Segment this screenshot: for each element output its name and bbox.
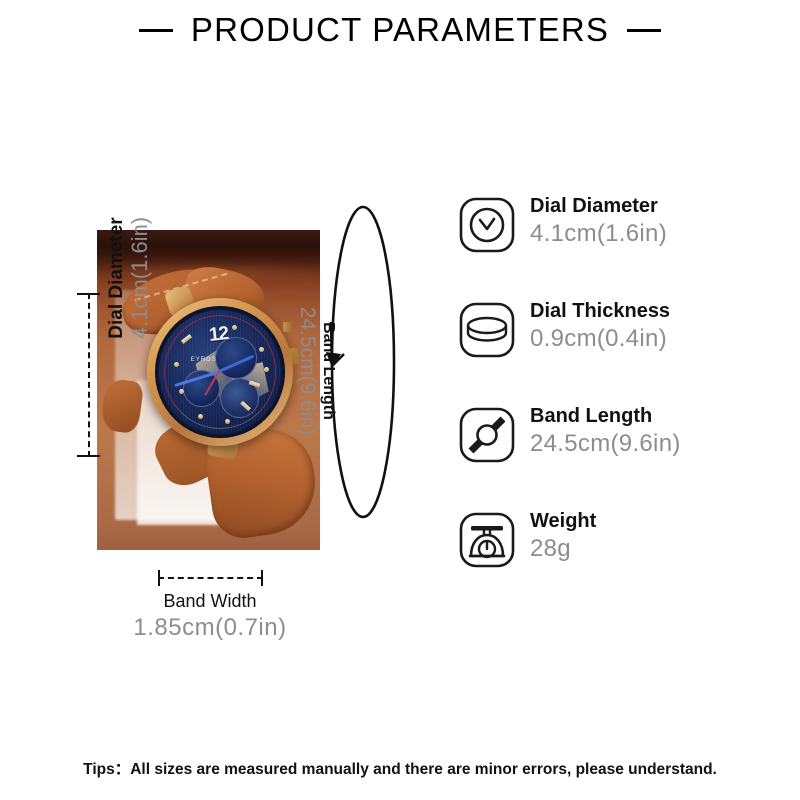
spec-label: Dial Diameter: [530, 194, 667, 219]
spec-label: Dial Thickness: [530, 299, 670, 324]
band-width-callout: Band Width 1.85cm(0.7in): [90, 590, 330, 643]
watch-band-icon: [458, 406, 516, 464]
spec-list: Dial Diameter 4.1cm(1.6in) Dial Thicknes…: [458, 192, 788, 612]
dial-marker-pip: [264, 367, 269, 372]
dial-diameter-callout-label: Dial Diameter: [107, 217, 127, 338]
spec-text-weight: Weight 28g: [530, 507, 596, 564]
dimension-line-dashed: [88, 293, 90, 457]
spec-text-dial-thickness: Dial Thickness 0.9cm(0.4in): [530, 297, 670, 354]
dimension-line-dashed: [158, 577, 263, 579]
dial-hour-12-numeral: 12: [208, 323, 229, 347]
footer-tip: Tips：All sizes are measured manually and…: [0, 757, 800, 779]
band-length-callout-label: Band Length: [319, 322, 337, 420]
spec-row-dial-diameter: Dial Diameter 4.1cm(1.6in): [458, 192, 788, 297]
watch-dial: 12 EYROS: [159, 310, 281, 434]
title-left-dash-icon: [139, 29, 173, 32]
dial-marker-pip: [174, 362, 179, 367]
band-width-callout-label: Band Width: [90, 590, 330, 613]
dimension-cap-right: [261, 570, 263, 586]
spec-label: Band Length: [530, 404, 681, 429]
watch-bezel: 12 EYROS: [155, 306, 285, 438]
dial-diameter-callout: Dial Diameter 4.1cm(1.6in): [100, 148, 160, 408]
spec-value: 28g: [530, 534, 596, 564]
dial-brand-text: EYROS: [191, 357, 217, 363]
watch-dial-icon: [458, 196, 516, 254]
dimension-cap-left: [158, 570, 160, 586]
band-width-callout-value: 1.85cm(0.7in): [90, 613, 330, 643]
spec-row-weight: Weight 28g: [458, 507, 788, 612]
spec-row-dial-thickness: Dial Thickness 0.9cm(0.4in): [458, 297, 788, 402]
watch-case: 12 EYROS: [147, 298, 293, 446]
band-width-dimension-line: [158, 577, 263, 578]
dial-marker-pip: [225, 419, 230, 424]
title-right-dash-icon: [627, 29, 661, 32]
dial-diameter-dimension-line: [88, 293, 89, 457]
spec-value: 0.9cm(0.4in): [530, 324, 670, 354]
dimension-cap-top: [77, 293, 100, 295]
band-length-callout: Band Length 24.5cm(9.6in): [287, 246, 345, 496]
kitchen-scale-icon: [458, 511, 516, 569]
spec-value: 4.1cm(1.6in): [530, 219, 667, 249]
page-header: PRODUCT PARAMETERS: [0, 6, 800, 54]
spec-row-band-length: Band Length 24.5cm(9.6in): [458, 402, 788, 507]
spec-text-dial-diameter: Dial Diameter 4.1cm(1.6in): [530, 192, 667, 249]
spec-text-band-length: Band Length 24.5cm(9.6in): [530, 402, 681, 459]
dimension-cap-bottom: [77, 455, 100, 457]
dial-marker-pip: [179, 389, 184, 394]
dial-diameter-callout-value: 4.1cm(1.6in): [127, 217, 152, 339]
spec-label: Weight: [530, 509, 596, 534]
page-title: PRODUCT PARAMETERS: [191, 11, 609, 49]
disc-thickness-icon: [458, 301, 516, 359]
band-length-callout-value: 24.5cm(9.6in): [295, 307, 319, 435]
spec-value: 24.5cm(9.6in): [530, 429, 681, 459]
